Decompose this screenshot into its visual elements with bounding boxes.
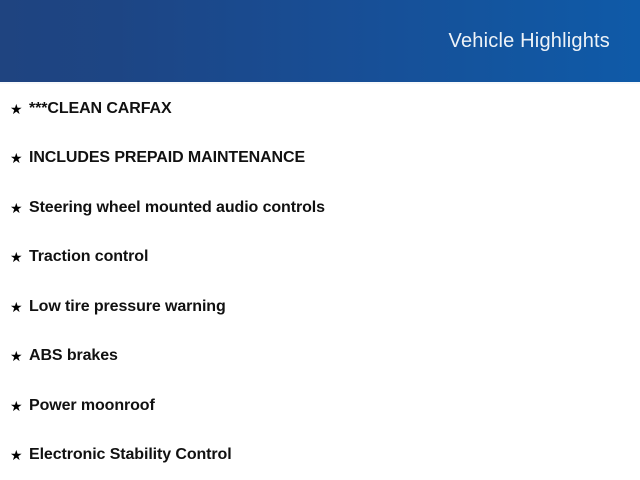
list-item: ★ ***CLEAN CARFAX	[0, 84, 640, 134]
highlight-label: Power moonroof	[29, 396, 640, 416]
star-icon: ★	[10, 349, 29, 363]
vehicle-highlights-list: ★ ***CLEAN CARFAX ★ INCLUDES PREPAID MAI…	[0, 84, 640, 480]
list-item: ★ ABS brakes	[0, 332, 640, 382]
highlight-label: INCLUDES PREPAID MAINTENANCE	[29, 148, 640, 168]
highlight-label: Low tire pressure warning	[29, 297, 640, 317]
highlight-label: Steering wheel mounted audio controls	[29, 198, 640, 218]
star-icon: ★	[10, 102, 29, 116]
highlight-label: Electronic Stability Control	[29, 445, 640, 465]
star-icon: ★	[10, 151, 29, 165]
star-icon: ★	[10, 399, 29, 413]
star-icon: ★	[10, 300, 29, 314]
highlight-label: ***CLEAN CARFAX	[29, 99, 640, 119]
highlight-label: Traction control	[29, 247, 640, 267]
list-item: ★ INCLUDES PREPAID MAINTENANCE	[0, 134, 640, 184]
star-icon: ★	[10, 448, 29, 462]
list-item: ★ Traction control	[0, 233, 640, 283]
page-title: Vehicle Highlights	[449, 29, 610, 53]
highlight-label: ABS brakes	[29, 346, 640, 366]
star-icon: ★	[10, 201, 29, 215]
star-icon: ★	[10, 250, 29, 264]
list-item: ★ Power moonroof	[0, 381, 640, 431]
list-item: ★ Electronic Stability Control	[0, 431, 640, 480]
list-item: ★ Low tire pressure warning	[0, 282, 640, 332]
list-item: ★ Steering wheel mounted audio controls	[0, 183, 640, 233]
header-band: Vehicle Highlights	[0, 0, 640, 82]
